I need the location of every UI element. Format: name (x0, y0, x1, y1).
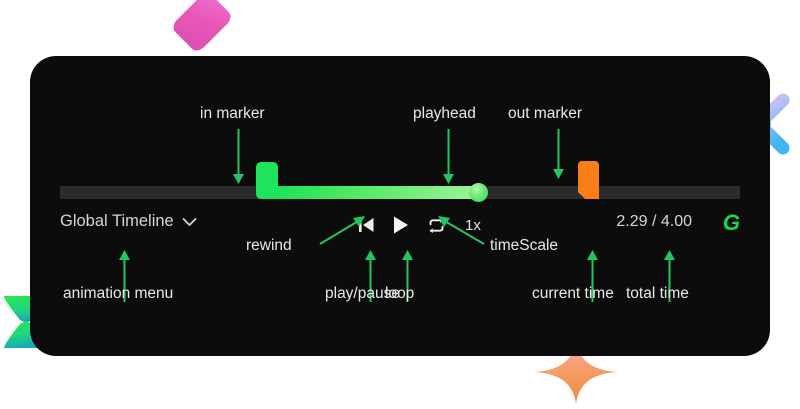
annotation-in-marker: in marker (200, 105, 265, 123)
timeline-scrubber[interactable] (60, 186, 740, 200)
gsap-timeline-panel: in marker playhead out marker Global Tim… (30, 56, 770, 356)
pink-diamond-decoration (170, 0, 234, 54)
animation-menu-dropdown[interactable]: Global Timeline (60, 212, 197, 231)
controls-row: Global Timeline (60, 212, 740, 238)
play-pause-button[interactable] (392, 215, 410, 235)
annotation-current-time: current time (532, 285, 614, 303)
arrow-out-marker (550, 129, 567, 179)
annotation-timescale: timeScale (490, 237, 558, 255)
out-marker-handle[interactable] (578, 161, 599, 199)
playhead-knob[interactable] (469, 183, 488, 202)
annotation-out-marker: out marker (508, 105, 582, 123)
annotation-loop: loop (385, 285, 414, 303)
timeline-progress-fill (256, 186, 478, 199)
arrow-in-marker (230, 129, 247, 184)
in-marker-handle[interactable] (256, 162, 278, 199)
gsap-logo[interactable]: G (723, 210, 740, 236)
annotation-rewind: rewind (246, 237, 292, 255)
time-readout: 2.29 / 4.00 (616, 213, 692, 231)
arrow-rewind (318, 214, 366, 246)
arrow-playhead (440, 129, 457, 184)
animation-menu-label: Global Timeline (60, 212, 174, 231)
play-icon (392, 215, 410, 235)
arrow-timescale (434, 214, 486, 246)
annotation-playhead: playhead (413, 105, 476, 123)
chevron-down-icon (182, 217, 197, 227)
annotation-animation-menu: animation menu (63, 285, 173, 303)
annotation-total-time: total time (626, 285, 689, 303)
